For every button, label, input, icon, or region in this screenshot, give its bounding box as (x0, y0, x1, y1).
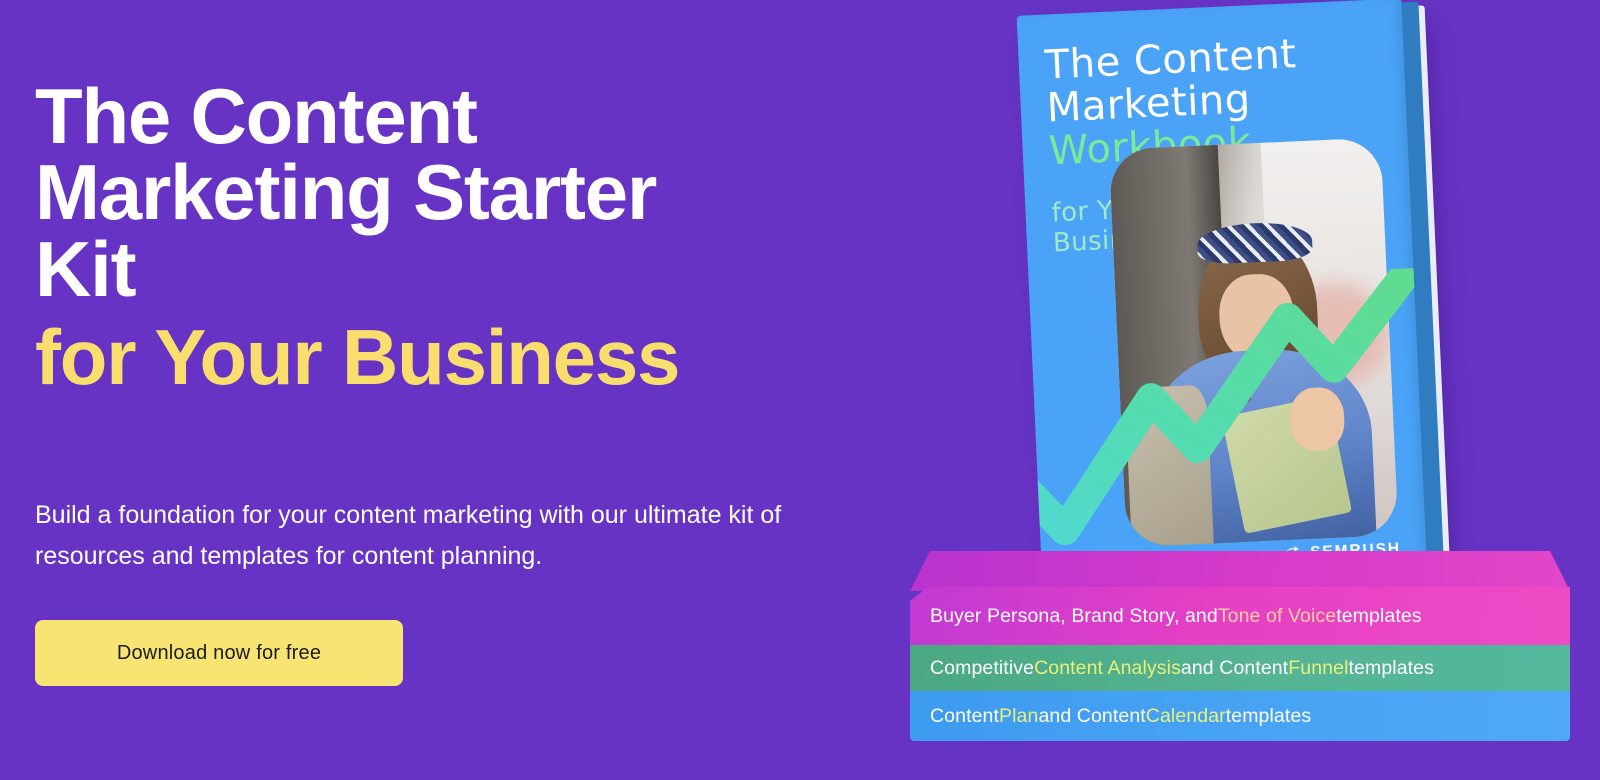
hero-copy-column: The Content Marketing Starter Kit for Yo… (35, 0, 915, 780)
photo-bag-strap (1125, 384, 1214, 547)
stack-band-buyer-persona: Buyer Persona, Brand Story, and Tone of … (910, 587, 1570, 645)
workbook-illustration: The Content Marketing Workbook for Your … (1017, 0, 1464, 615)
band-3-highlight-1: Plan (999, 705, 1038, 728)
band-2-highlight-1: Content Analysis (1034, 657, 1181, 680)
template-stack: Buyer Persona, Brand Story, and Tone of … (910, 587, 1570, 752)
stack-band-content-analysis: Competitive Content Analysis and Content… (910, 645, 1570, 691)
band-2-highlight-2: Funnel (1288, 657, 1348, 680)
band-3-text-part-3: templates (1226, 705, 1311, 728)
cover-photo (1109, 137, 1399, 547)
download-now-button[interactable]: Download now for free (35, 620, 403, 686)
band-3-highlight-2: Calendar (1146, 705, 1226, 728)
band-1-text-part-2: templates (1336, 605, 1421, 628)
headline-line-2: Marketing Starter (35, 154, 795, 230)
headline-accent: for Your Business (35, 319, 795, 395)
page-title: The Content Marketing Starter Kit for Yo… (35, 78, 795, 396)
band-1-text-part-1: Buyer Persona, Brand Story, and (930, 605, 1218, 628)
photo-hand (1288, 386, 1345, 452)
band-3-text-part-2: and Content (1038, 705, 1145, 728)
band-2-text-part-3: templates (1349, 657, 1434, 680)
band-3-text-part-1: Content (930, 705, 999, 728)
band-2-text-part-1: Competitive (930, 657, 1034, 680)
headline-line-3: Kit (35, 231, 795, 307)
band-1-highlight: Tone of Voice (1218, 605, 1336, 628)
stack-band-content-plan: Content Plan and Content Calendar templa… (910, 691, 1570, 741)
headline-line-1: The Content (35, 78, 795, 154)
stack-top-face (910, 551, 1570, 591)
hero-subcopy: Build a foundation for your content mark… (35, 495, 855, 576)
book-front-cover: The Content Marketing Workbook for Your … (1017, 0, 1428, 607)
band-2-text-part-2: and Content (1181, 657, 1288, 680)
hero-artwork: The Content Marketing Workbook for Your … (880, 0, 1600, 780)
